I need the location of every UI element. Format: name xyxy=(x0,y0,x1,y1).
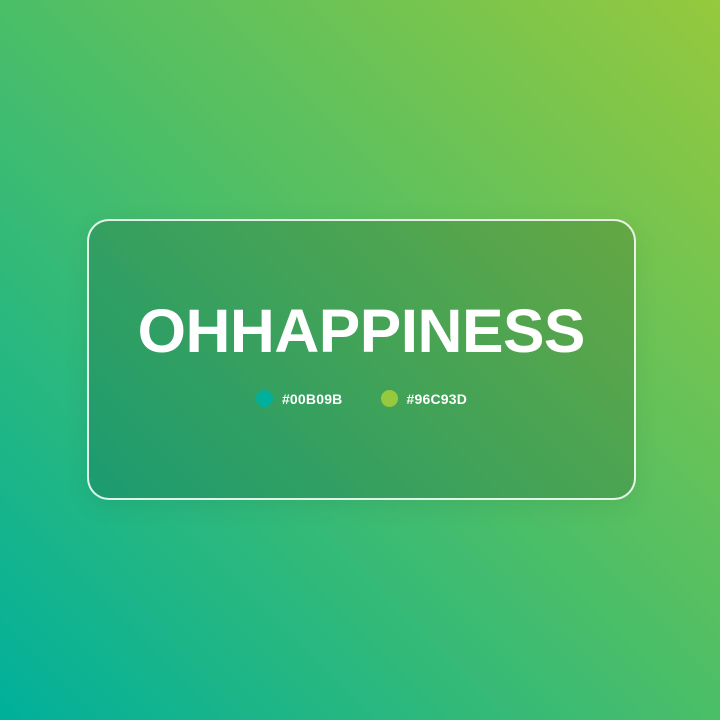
swatch-chip-lime[interactable]: #96C93D xyxy=(381,390,468,407)
gradient-background: OHHAPPINESS #00B09B #96C93D xyxy=(0,0,720,720)
swatch-label-lime: #96C93D xyxy=(407,391,468,407)
swatch-dot-lime-icon xyxy=(381,390,398,407)
swatch-row: #00B09B #96C93D xyxy=(256,390,467,407)
swatch-dot-teal-icon xyxy=(256,390,273,407)
swatch-label-teal: #00B09B xyxy=(282,391,343,407)
gradient-preview-card[interactable]: OHHAPPINESS #00B09B #96C93D xyxy=(87,219,636,500)
swatch-chip-teal[interactable]: #00B09B xyxy=(256,390,343,407)
page-title: OHHAPPINESS xyxy=(138,300,585,362)
